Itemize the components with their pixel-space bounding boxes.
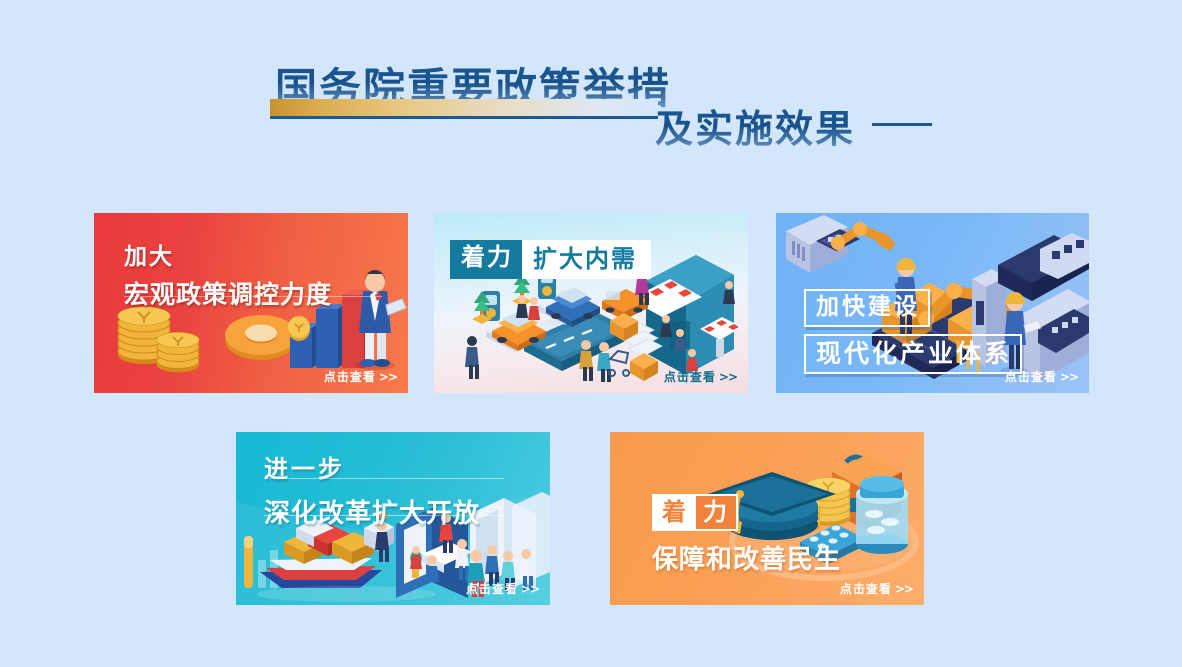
card5-cta-label: 点击查看 bbox=[840, 582, 892, 596]
card2-title: 着力 扩大内需 bbox=[450, 240, 651, 279]
title-gold-bar bbox=[270, 99, 658, 116]
title-rule-left bbox=[270, 116, 658, 119]
card5-title-row1: 着 力 bbox=[652, 494, 841, 531]
card1-cta-arrow: >> bbox=[379, 370, 397, 384]
card4-cta-label: 点击查看 bbox=[466, 582, 518, 596]
card2-title-part1: 着力 bbox=[450, 240, 522, 279]
card5-title: 着 力 保障和改善民生 bbox=[652, 494, 841, 576]
card3-title-line1: 加快建设 bbox=[804, 289, 930, 327]
card-macro-policy[interactable]: 加大 宏观政策调控力度 点击查看>> bbox=[94, 213, 408, 393]
card1-title-line1: 加大 bbox=[124, 237, 332, 271]
title-rule-right bbox=[872, 123, 932, 126]
card4-cta[interactable]: 点击查看>> bbox=[466, 580, 539, 597]
card2-title-part2: 扩大内需 bbox=[522, 240, 651, 279]
card-domestic-demand[interactable]: 着力 扩大内需 点击查看>> bbox=[434, 213, 748, 393]
card4-title-line1: 进一步 bbox=[264, 449, 480, 484]
card5-title-part1: 着 bbox=[652, 494, 696, 531]
card4-title: 进一步 深化改革扩大开放 bbox=[264, 449, 480, 530]
card1-cta-label: 点击查看 bbox=[324, 370, 376, 384]
card3-cta-arrow: >> bbox=[1060, 370, 1078, 384]
card-reform-opening[interactable]: 进一步 深化改革扩大开放 点击查看>> bbox=[236, 432, 550, 605]
card2-cta-arrow: >> bbox=[719, 370, 737, 384]
card5-title-line2: 保障和改善民生 bbox=[652, 539, 841, 576]
card-livelihood[interactable]: 着 力 保障和改善民生 点击查看>> bbox=[610, 432, 924, 605]
card3-title-line2: 现代化产业体系 bbox=[804, 334, 1022, 374]
card5-title-part2: 力 bbox=[696, 494, 738, 531]
card5-cta-arrow: >> bbox=[895, 582, 913, 596]
card3-cta-label: 点击查看 bbox=[1005, 370, 1057, 384]
card1-cta[interactable]: 点击查看>> bbox=[324, 368, 397, 385]
card5-cta[interactable]: 点击查看>> bbox=[840, 580, 913, 597]
card4-cta-arrow: >> bbox=[521, 582, 539, 596]
card-modern-industry[interactable]: 加快建设 现代化产业体系 点击查看>> bbox=[776, 213, 1089, 393]
card2-cta-label: 点击查看 bbox=[664, 370, 716, 384]
card1-title-line2: 宏观政策调控力度 bbox=[124, 275, 332, 311]
page-title-line2: 及实施效果 bbox=[655, 98, 855, 153]
card4-title-line2: 深化改革扩大开放 bbox=[264, 493, 480, 530]
card2-cta[interactable]: 点击查看>> bbox=[664, 368, 737, 385]
card3-cta[interactable]: 点击查看>> bbox=[1005, 368, 1078, 385]
page-header: 国务院重要政策举措 及实施效果 bbox=[0, 0, 1182, 175]
card1-title: 加大 宏观政策调控力度 bbox=[124, 237, 332, 311]
card3-title: 加快建设 现代化产业体系 bbox=[804, 289, 1022, 374]
